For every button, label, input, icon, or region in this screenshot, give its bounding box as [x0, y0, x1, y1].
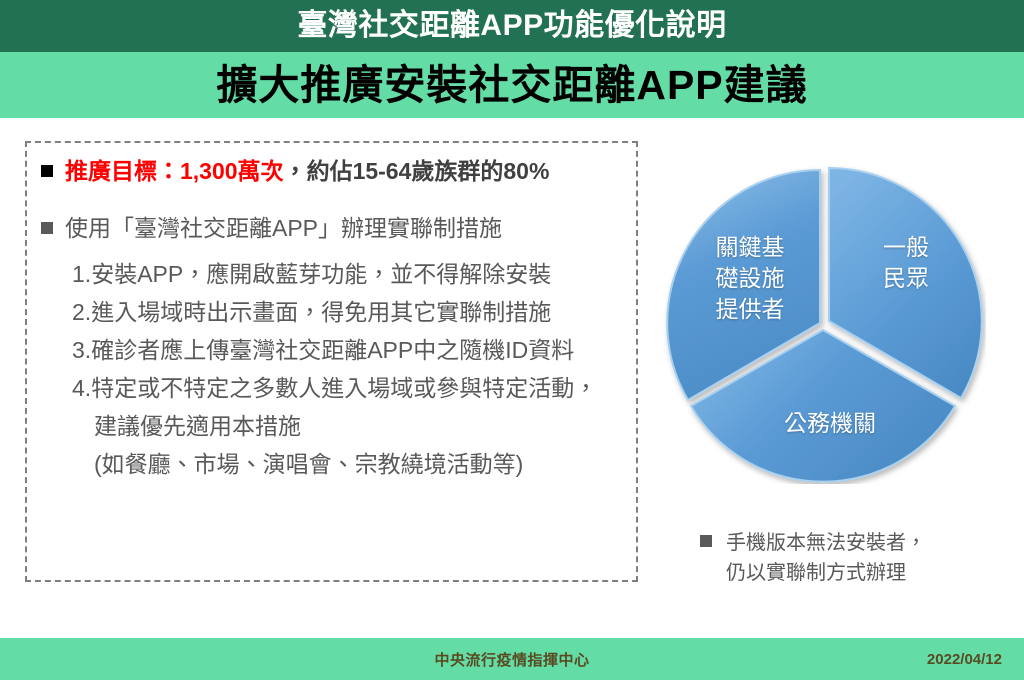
list-item-number: 4. — [72, 375, 91, 401]
list-item: 4.特定或不特定之多數人進入場域或參與特定活動， 建議優先適用本措施 (如餐廳、… — [72, 369, 642, 483]
square-bullet-icon — [41, 222, 53, 234]
goal-highlight: 推廣目標：1,300萬次 — [65, 158, 284, 184]
page-subtitle: 擴大推廣安裝社交距離APP建議 — [216, 65, 807, 106]
square-bullet-icon — [41, 165, 53, 177]
header-dark-band: 臺灣社交距離APP功能優化說明 — [0, 0, 1024, 52]
chart-note-line: 手機版本無法安裝者， — [726, 528, 926, 558]
content-panel: 推廣目標：1,300萬次，約佔15-64歲族群的80% 使用「臺灣社交距離APP… — [25, 141, 638, 582]
goal-text: 推廣目標：1,300萬次，約佔15-64歲族群的80% — [65, 156, 549, 186]
list-item-text: 特定或不特定之多數人進入場域或參與特定活動， — [91, 375, 597, 401]
list-item-number: 2. — [72, 299, 91, 325]
list-item-number: 3. — [72, 337, 91, 363]
list-item-text: 進入場域時出示畫面，得免用其它實聯制措施 — [91, 299, 551, 325]
chart-note-line: 仍以實聯制方式辦理 — [726, 558, 926, 588]
goal-rest: ，約佔15-64歲族群的80% — [284, 158, 550, 184]
footer-organization: 中央流行疫情指揮中心 — [0, 638, 1024, 680]
list-item: 2.進入場域時出示畫面，得免用其它實聯制措施 — [72, 293, 642, 331]
page-title: 臺灣社交距離APP功能優化說明 — [297, 11, 726, 41]
list-item: 1.安裝APP，應開啟藍芽功能，並不得解除安裝 — [72, 255, 642, 293]
footer-date: 2022/04/12 — [927, 638, 1002, 680]
square-bullet-icon — [700, 535, 712, 547]
header-light-band: 擴大推廣安裝社交距離APP建議 — [0, 52, 1024, 118]
list-item-text: 確診者應上傳臺灣社交距離APP中之隨機ID資料 — [91, 337, 574, 363]
goal-bullet-row: 推廣目標：1,300萬次，約佔15-64歲族群的80% — [41, 156, 631, 186]
chart-note-text: 手機版本無法安裝者， 仍以實聯制方式辦理 — [726, 528, 926, 588]
pie-chart: 一般 民眾 關鍵基 礎設施 提供者 公務機關 — [662, 160, 986, 484]
footer-bar: 中央流行疫情指揮中心 2022/04/12 — [0, 638, 1024, 680]
list-item-number: 1. — [72, 261, 91, 287]
chart-note: 手機版本無法安裝者， 仍以實聯制方式辦理 — [700, 528, 1010, 588]
measure-bullet-row: 使用「臺灣社交距離APP」辦理實聯制措施 — [41, 213, 631, 243]
pie-chart-svg — [662, 160, 986, 484]
measure-heading: 使用「臺灣社交距離APP」辦理實聯制措施 — [65, 213, 502, 243]
list-item-continuation: (如餐廳、市場、演唱會、宗教繞境活動等) — [72, 445, 642, 483]
numbered-list: 1.安裝APP，應開啟藍芽功能，並不得解除安裝 2.進入場域時出示畫面，得免用其… — [72, 255, 642, 483]
list-item: 3.確診者應上傳臺灣社交距離APP中之隨機ID資料 — [72, 331, 642, 369]
list-item-continuation: 建議優先適用本措施 — [72, 407, 642, 445]
list-item-text: 安裝APP，應開啟藍芽功能，並不得解除安裝 — [91, 261, 551, 287]
